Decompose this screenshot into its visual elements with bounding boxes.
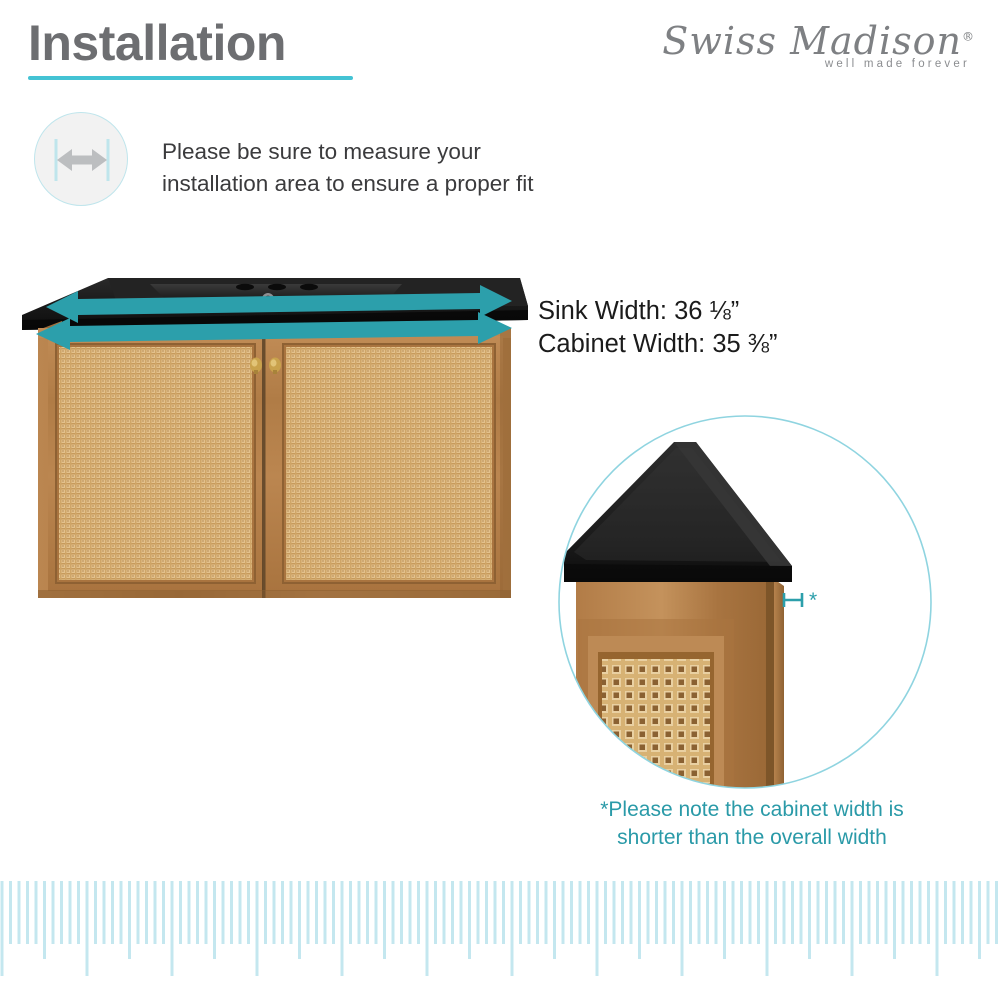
footnote-line-2: shorter than the overall width	[552, 824, 952, 852]
brand-logo-name: Swiss Madison	[662, 19, 962, 63]
page-title: Installation	[28, 18, 286, 68]
corner-detail-callout: *	[556, 414, 946, 794]
cabinet-width-footnote: *Please note the cabinet width is shorte…	[552, 796, 952, 852]
brand-logo: Swiss Madison® well made forever	[662, 22, 974, 70]
installation-page: Installation Swiss Madison® well made fo…	[0, 0, 1000, 1000]
measure-instruction-text: Please be sure to measure your installat…	[162, 136, 533, 200]
detail-asterisk: *	[809, 589, 817, 612]
title-underline-rule	[28, 76, 353, 80]
vanity-product-illustration	[0, 258, 545, 608]
ruler-decoration	[0, 875, 1000, 1000]
dimension-labels: Sink Width: 36 ⅛” Cabinet Width: 35 ⅜”	[538, 295, 778, 361]
double-arrow-width-icon	[34, 112, 128, 206]
cabinet-width-label: Cabinet Width: 35 ⅜”	[538, 328, 778, 361]
measure-instruction-line-2: installation area to ensure a proper fit	[162, 168, 533, 200]
footnote-line-1: *Please note the cabinet width is	[552, 796, 952, 824]
dimension-marker-icon	[784, 593, 802, 607]
measure-instruction-line-1: Please be sure to measure your	[162, 136, 533, 168]
registered-trademark-icon: ®	[962, 29, 974, 43]
sink-width-label: Sink Width: 36 ⅛”	[538, 295, 778, 328]
brand-logo-wordmark: Swiss Madison®	[662, 22, 974, 62]
